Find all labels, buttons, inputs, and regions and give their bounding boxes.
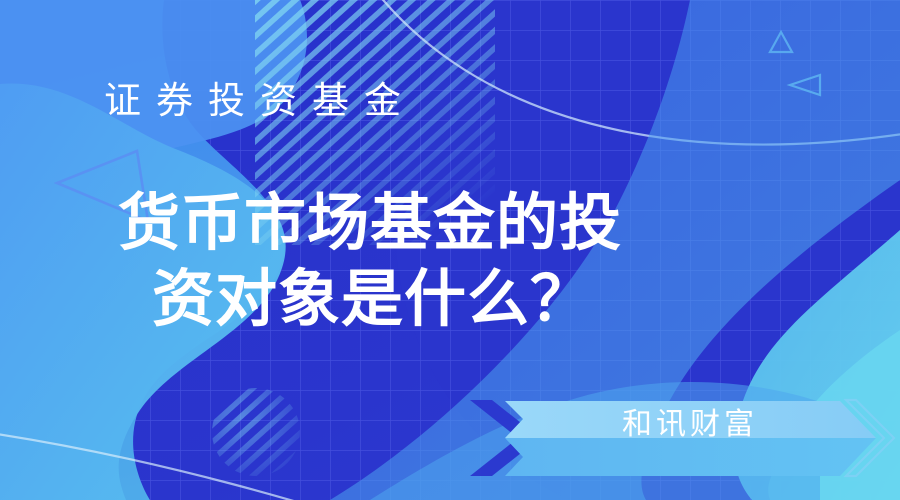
- banner-subtitle: 证券投资基金: [104, 78, 416, 124]
- promo-banner: 证券投资基金 货币市场基金的投 资对象是什么？ 和讯财富: [0, 0, 900, 500]
- text-layer: 证券投资基金 货币市场基金的投 资对象是什么？ 和讯财富: [0, 0, 900, 500]
- brand-ribbon-label: 和讯财富: [560, 404, 820, 446]
- headline-line-2: 资对象是什么？: [118, 262, 758, 338]
- headline-line-1: 货币市场基金的投: [118, 186, 758, 262]
- banner-headline: 货币市场基金的投 资对象是什么？: [118, 186, 758, 338]
